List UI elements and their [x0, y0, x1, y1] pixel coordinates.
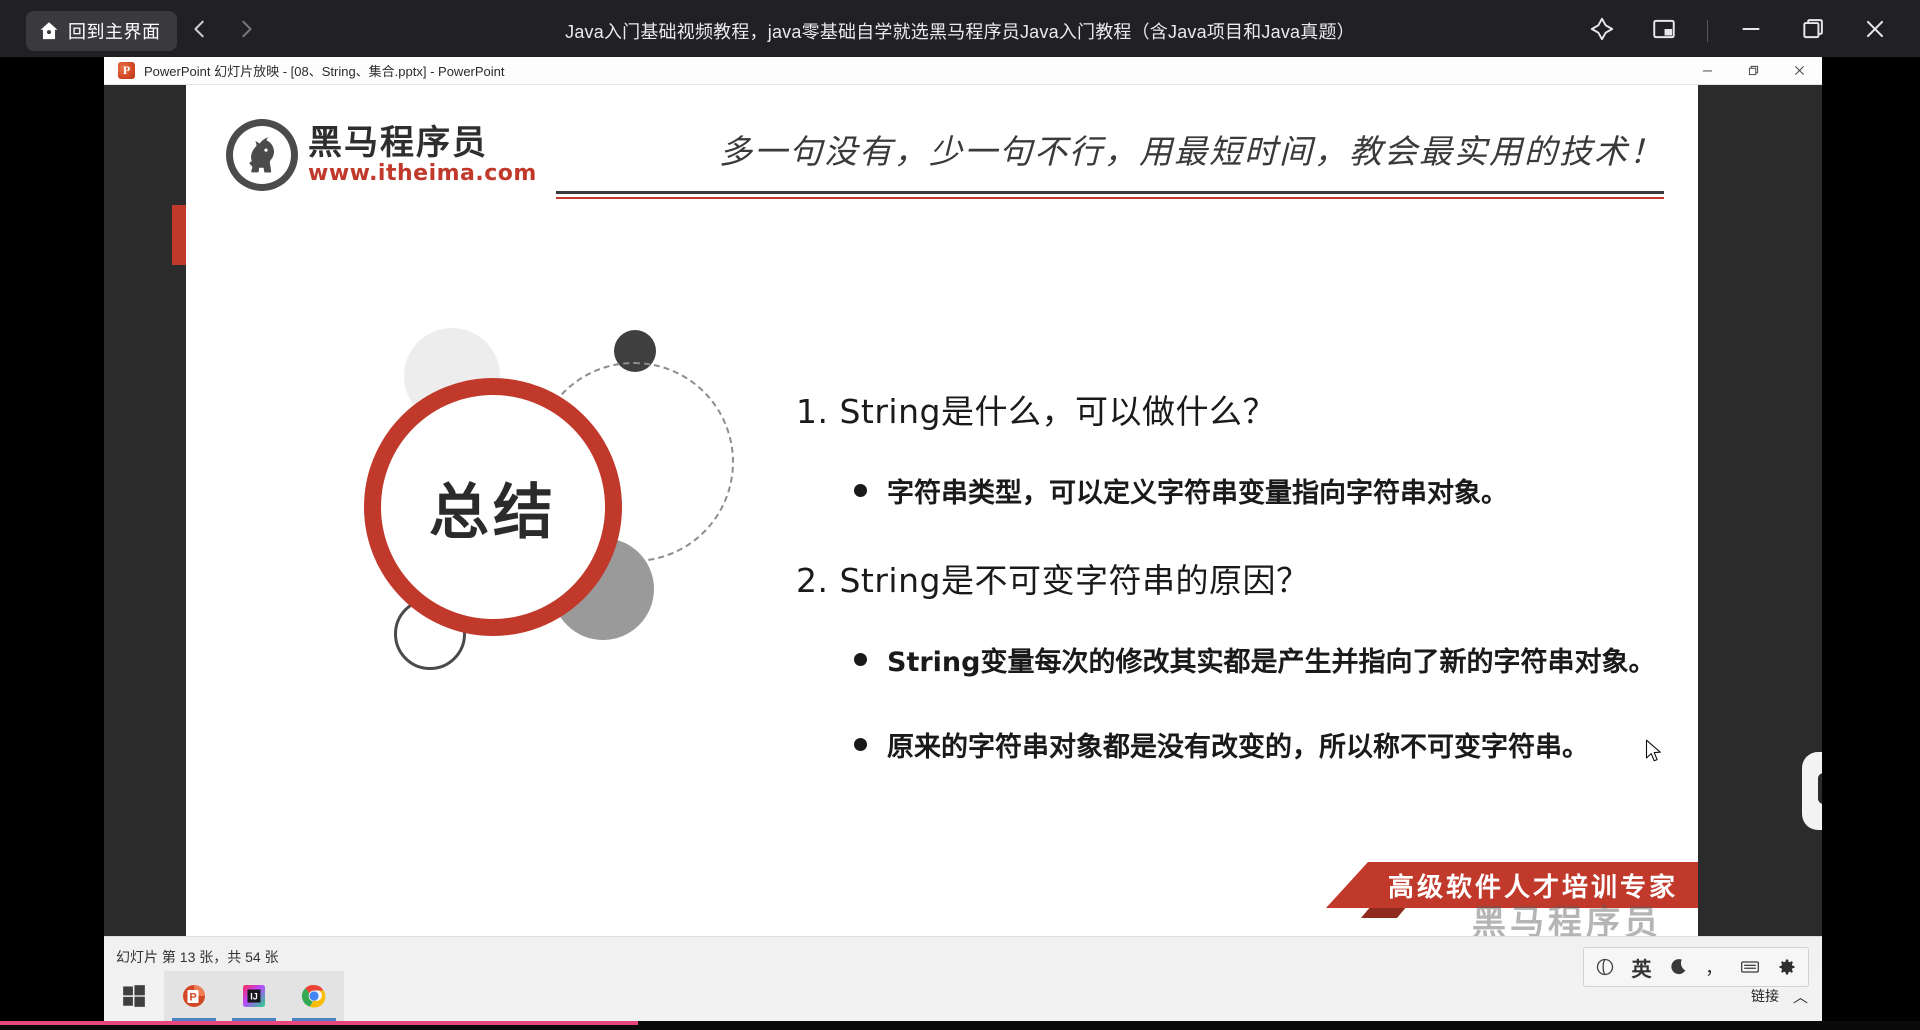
answer-1-1: 字符串类型，可以定义字符串变量指向字符串对象。 — [796, 471, 1638, 510]
player-window-actions — [1573, 0, 1920, 62]
itheima-logo-text: 黑马程序员 www.itheima.com — [308, 126, 537, 185]
minimize-button[interactable] — [1722, 0, 1780, 62]
chevron-right-icon — [235, 18, 257, 45]
summary-ring: 总结 — [364, 378, 622, 636]
maximize-icon — [1800, 16, 1826, 47]
taskbar-intellij-idea[interactable]: IJ — [224, 971, 284, 1021]
ime-language-toggle[interactable]: 英 — [1624, 951, 1658, 983]
powerpoint-minimize-button[interactable] — [1684, 57, 1730, 85]
ime-keyboard-icon[interactable] — [1733, 951, 1767, 983]
bullet-icon — [854, 653, 867, 666]
actions-divider — [1707, 20, 1708, 42]
powerpoint-close-button[interactable] — [1776, 57, 1822, 85]
maximize-button[interactable] — [1784, 0, 1842, 62]
tray-link-label[interactable]: 链接 — [1751, 986, 1779, 1006]
taskbar-chrome[interactable] — [284, 971, 344, 1021]
minimize-icon — [1738, 16, 1764, 47]
picture-in-picture-icon — [1651, 16, 1677, 47]
answer-text: 字符串类型，可以定义字符串变量指向字符串对象。 — [887, 471, 1508, 510]
intellij-idea-icon: IJ — [241, 983, 267, 1009]
windows-logo-icon — [121, 983, 147, 1009]
answer-2-2: 原来的字符串对象都是没有改变的，所以称不可变字符串。 — [796, 725, 1638, 764]
horse-head-icon — [226, 119, 298, 191]
slide-header: 黑马程序员 www.itheima.com 多一句没有，少一句不行，用最短时间，… — [226, 115, 1678, 205]
powerpoint-title: PowerPoint 幻灯片放映 - [08、String、集合.pptx] -… — [144, 61, 505, 80]
chrome-icon — [301, 983, 327, 1009]
ime-toolbar[interactable]: 英 ， — [1583, 947, 1809, 987]
slide-show-stage[interactable]: 黑马程序员 www.itheima.com 多一句没有，少一句不行，用最短时间，… — [104, 85, 1822, 977]
banner-tail — [1326, 862, 1368, 908]
next-video-button[interactable] — [223, 8, 269, 54]
letterbox-left — [0, 57, 104, 1030]
bullet-icon — [854, 484, 867, 497]
player-top-bar: 回到主界面 Java入门基础视频教程，java零基础自学就选黑马程序员Java入… — [0, 0, 1920, 62]
powerpoint-app-icon — [118, 62, 135, 79]
chevron-left-icon — [189, 18, 211, 45]
previous-video-button[interactable] — [177, 8, 223, 54]
powerpoint-restore-button[interactable] — [1730, 57, 1776, 85]
header-rule-red — [556, 197, 1664, 199]
home-icon — [38, 20, 60, 42]
question-2: 2. String是不可变字符串的原因？ — [796, 554, 1638, 602]
svg-text:IJ: IJ — [250, 992, 258, 1002]
bullet-icon — [854, 738, 867, 751]
ime-logo-icon[interactable] — [1588, 951, 1622, 983]
powerpoint-window-controls — [1684, 57, 1822, 85]
slide-watermark: 黑马程序员 — [1472, 895, 1662, 936]
ime-settings-icon[interactable] — [1770, 951, 1804, 983]
slide-counter: 幻灯片 第 13 张，共 54 张 — [116, 947, 279, 967]
powerpoint-window: PowerPoint 幻灯片放映 - [08、String、集合.pptx] -… — [104, 57, 1822, 977]
summary-label: 总结 — [429, 464, 557, 551]
close-icon — [1862, 16, 1888, 47]
picture-in-picture-button[interactable] — [1635, 0, 1693, 62]
tray-expand-chevron-icon[interactable]: ︿ — [1793, 986, 1808, 1007]
ime-punctuation-icon[interactable]: ， — [1697, 951, 1731, 983]
back-to-home-label: 回到主界面 — [68, 18, 161, 44]
video-player-window: 回到主界面 Java入门基础视频教程，java零基础自学就选黑马程序员Java入… — [0, 0, 1920, 1030]
taskbar-tray: 链接 ︿ — [1751, 986, 1822, 1007]
video-progress-fill — [0, 1021, 638, 1025]
itheima-logo: 黑马程序员 www.itheima.com — [226, 119, 537, 191]
windows-taskbar: P IJ — [104, 971, 1822, 1021]
brand-name: 黑马程序员 — [308, 126, 537, 160]
answer-text: 原来的字符串对象都是没有改变的，所以称不可变字符串。 — [887, 725, 1589, 764]
letterbox-right — [1822, 57, 1920, 1030]
question-1: 1. String是什么，可以做什么？ — [796, 385, 1638, 433]
taskbar-start-button[interactable] — [104, 971, 164, 1021]
summary-graphic: 总结 — [336, 310, 796, 690]
answer-text: String变量每次的修改其实都是产生并指向了新的字符串对象。 — [887, 640, 1655, 679]
powerpoint-title-bar[interactable]: PowerPoint 幻灯片放映 - [08、String、集合.pptx] -… — [104, 57, 1822, 85]
powerpoint-icon: P — [181, 983, 207, 1009]
ime-moon-icon[interactable] — [1661, 951, 1695, 983]
pin-icon — [1589, 16, 1615, 47]
taskbar-powerpoint[interactable]: P — [164, 971, 224, 1021]
slide-content: 1. String是什么，可以做什么？ 字符串类型，可以定义字符串变量指向字符串… — [796, 385, 1638, 764]
back-to-home-button[interactable]: 回到主界面 — [26, 11, 177, 51]
pin-button[interactable] — [1573, 0, 1631, 62]
svg-text:P: P — [189, 992, 196, 1004]
brand-url: www.itheima.com — [308, 163, 537, 185]
close-button[interactable] — [1846, 0, 1904, 62]
header-rule-dark — [556, 191, 1664, 194]
slide-slogan: 多一句没有，少一句不行，用最短时间，教会最实用的技术！ — [719, 125, 1664, 173]
slide-canvas[interactable]: 黑马程序员 www.itheima.com 多一句没有，少一句不行，用最短时间，… — [186, 85, 1698, 936]
answer-2-1: String变量每次的修改其实都是产生并指向了新的字符串对象。 — [796, 640, 1638, 679]
